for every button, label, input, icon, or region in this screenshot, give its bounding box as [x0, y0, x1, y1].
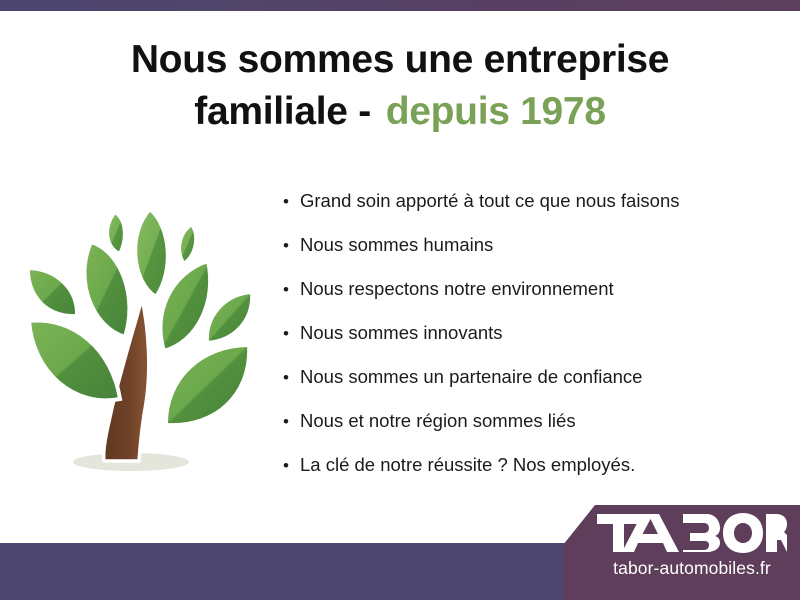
list-item: • Nous respectons notre environnement — [283, 278, 783, 322]
list-item: • Grand soin apporté à tout ce que nous … — [283, 190, 783, 234]
headline-spacer — [371, 90, 386, 133]
leaf-top-center — [135, 209, 168, 297]
bullet-marker-icon: • — [283, 325, 300, 342]
list-item: • La clé de notre réussite ? Nos employé… — [283, 454, 783, 498]
brand-logo[interactable]: tabor-automobiles.fr — [597, 511, 787, 591]
leaf-top-left-small — [107, 212, 125, 254]
list-item-label: Nous et notre région sommes liés — [300, 410, 576, 432]
slide-canvas: Nous sommes une entreprise familiale - d… — [0, 0, 800, 600]
headline-line-2-black: familiale - — [194, 90, 371, 133]
top-accent-band — [0, 0, 800, 11]
list-item-label: Grand soin apporté à tout ce que nous fa… — [300, 190, 680, 212]
logo-letter-r — [766, 514, 787, 552]
bullet-marker-icon: • — [283, 413, 300, 430]
list-item: • Nous sommes un partenaire de confiance — [283, 366, 783, 410]
list-item-label: La clé de notre réussite ? Nos employés. — [300, 454, 635, 476]
logo-letter-o — [723, 513, 763, 553]
leaf-far-left — [28, 268, 77, 316]
bullet-marker-icon: • — [283, 237, 300, 254]
bullet-marker-icon: • — [283, 457, 300, 474]
bullet-marker-icon: • — [283, 193, 300, 210]
headline-line-2: familiale - depuis 1978 — [0, 86, 800, 138]
list-item-label: Nous respectons notre environnement — [300, 278, 614, 300]
tabor-wordmark-icon — [597, 511, 787, 555]
leaf-far-right — [207, 292, 252, 343]
logo-letter-b — [683, 514, 720, 552]
tree-illustration — [14, 185, 264, 485]
leaf-top-right-small — [179, 224, 196, 264]
list-item-label: Nous sommes innovants — [300, 322, 503, 344]
list-item-label: Nous sommes un partenaire de confiance — [300, 366, 642, 388]
leaf-lower-right — [166, 345, 249, 425]
list-item-label: Nous sommes humains — [300, 234, 493, 256]
leaf-upper-left — [84, 242, 129, 337]
bullet-list: • Grand soin apporté à tout ce que nous … — [283, 190, 783, 498]
headline-line-1: Nous sommes une entreprise — [0, 34, 800, 86]
headline-line-2-accent: depuis 1978 — [386, 90, 606, 133]
list-item: • Nous sommes innovants — [283, 322, 783, 366]
bullet-marker-icon: • — [283, 281, 300, 298]
page-title: Nous sommes une entreprise familiale - d… — [0, 34, 800, 138]
bullet-marker-icon: • — [283, 369, 300, 386]
tree-illustration-svg — [14, 185, 264, 485]
leaf-lower-left — [29, 321, 120, 401]
list-item: • Nous sommes humains — [283, 234, 783, 278]
list-item: • Nous et notre région sommes liés — [283, 410, 783, 454]
logo-tagline: tabor-automobiles.fr — [597, 558, 787, 579]
